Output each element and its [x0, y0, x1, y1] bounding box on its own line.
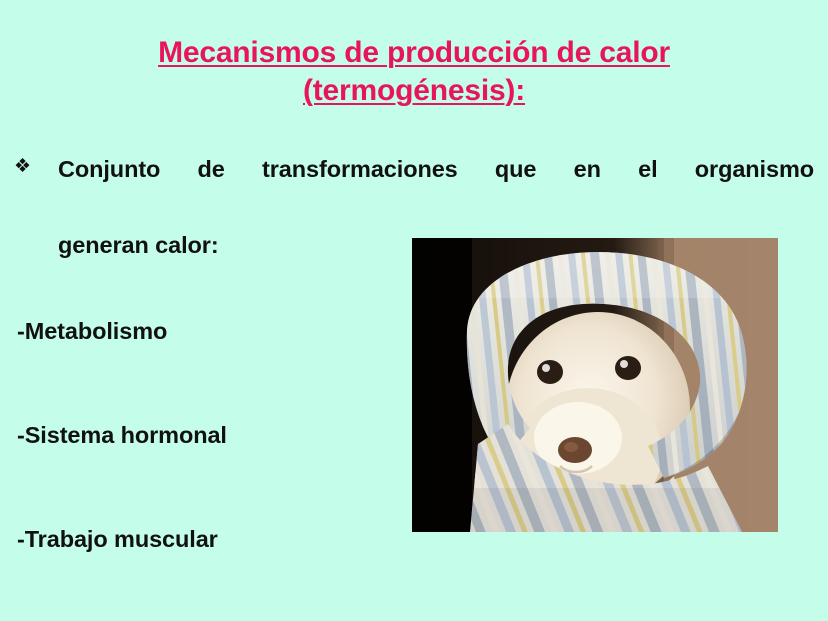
dog-photo	[412, 238, 778, 532]
page-title: Mecanismos de producción de calor (termo…	[60, 34, 768, 110]
list-item: -Trabajo muscular	[17, 524, 218, 554]
four-diamond-bullet-icon: ❖	[14, 156, 40, 178]
title-line-2-text: (termogénesis):	[303, 74, 525, 107]
title-line-2: (termogénesis):	[60, 72, 768, 110]
slide-canvas: Mecanismos de producción de calor (termo…	[0, 0, 828, 621]
bullet-paragraph-line-1: Conjunto de transformaciones que en el o…	[58, 150, 814, 226]
list-item: -Sistema hormonal	[17, 420, 227, 450]
title-line-1: Mecanismos de producción de calor	[60, 34, 768, 72]
dog-photo-scene	[412, 238, 778, 532]
list-item: -Metabolismo	[17, 316, 167, 346]
photo-shadow-left	[412, 238, 472, 532]
title-line-1-text: Mecanismos de producción de calor	[158, 36, 670, 69]
dog-photo-illustration	[412, 238, 778, 532]
